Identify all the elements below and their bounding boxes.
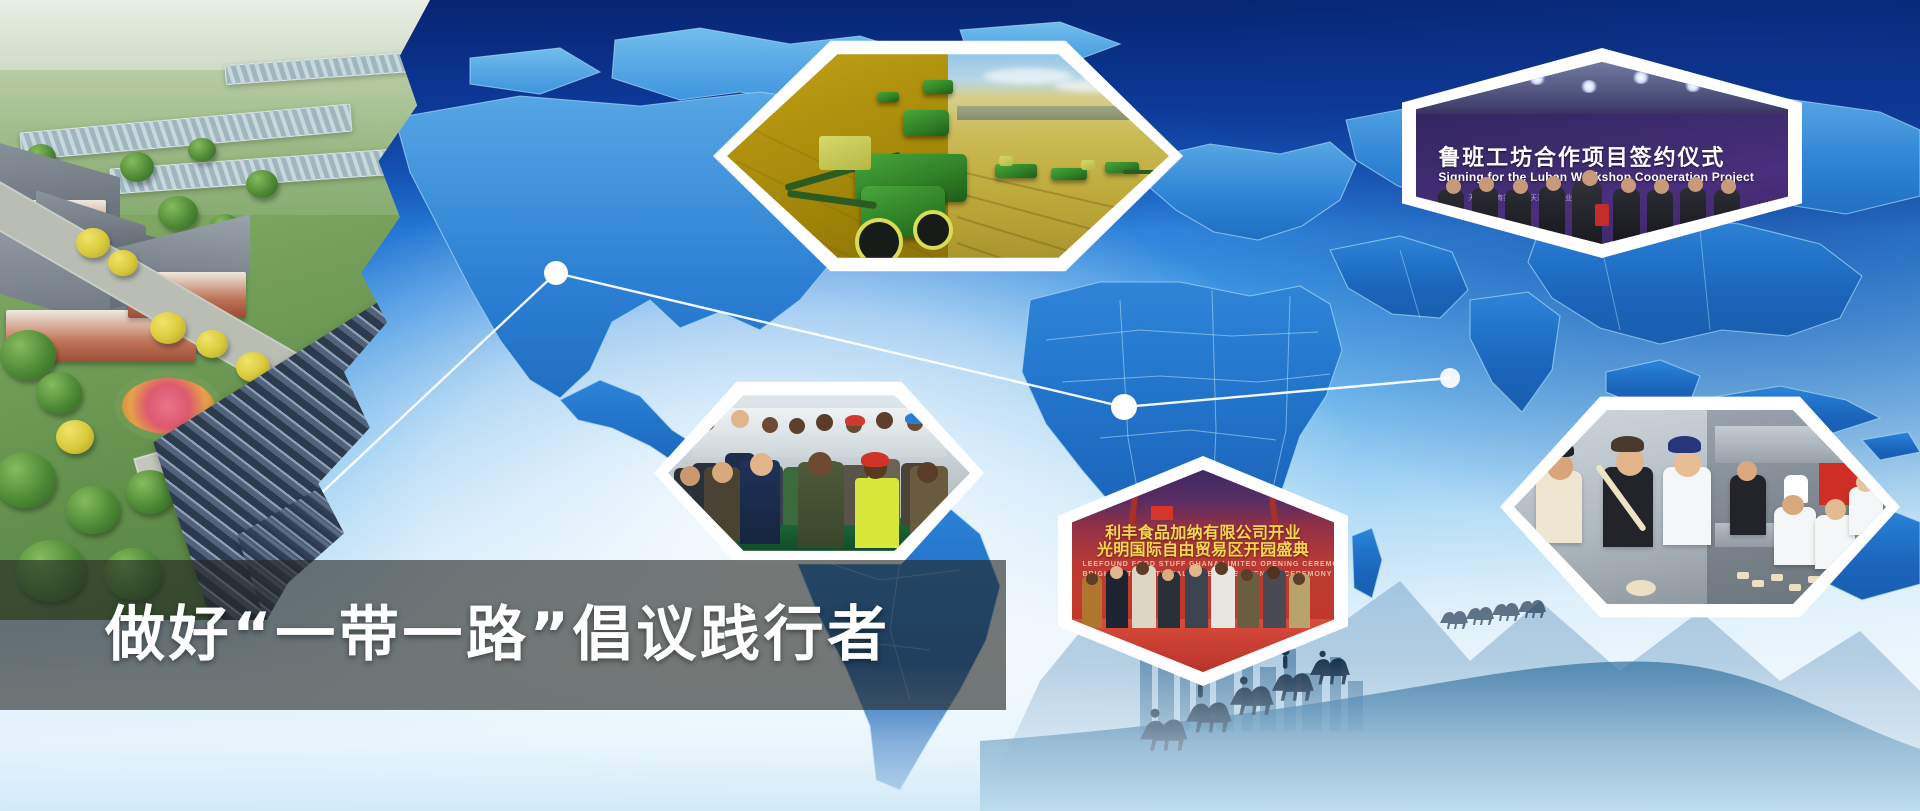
banner-stage: 鲁班工坊合作项目签约仪式 Signing for the Luban Works…	[0, 0, 1920, 811]
leefound-line1-cn: 利丰食品加纳有限公司开业	[1082, 525, 1323, 543]
page-title: 做好“一带一路”倡议践行者	[105, 605, 891, 665]
leefound-line2-cn: 光明国际自由贸易区开园盛典	[1082, 542, 1323, 560]
luban-title-cn: 鲁班工坊合作项目签约仪式	[1438, 146, 1773, 169]
title-band: 做好“一带一路”倡议践行者	[0, 560, 1006, 710]
